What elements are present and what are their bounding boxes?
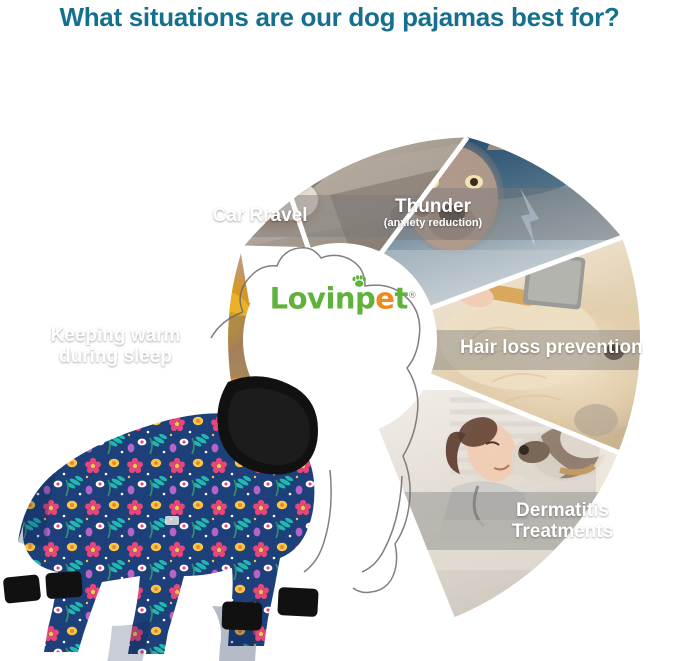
brand-part-1: Lovinp (270, 282, 376, 316)
brand-wordmark: Lovinpet® (270, 278, 417, 317)
brand-logo: Lovinpet® (253, 278, 433, 314)
infographic-canvas: What situations are our dog pajamas best… (0, 0, 679, 661)
brand-accent-letter: e (375, 282, 394, 316)
dog-in-pajamas-product-photo[interactable] (0, 330, 420, 661)
registered-trademark: ® (408, 291, 417, 301)
brand-part-2: t (394, 282, 407, 316)
product-tag (165, 516, 179, 525)
